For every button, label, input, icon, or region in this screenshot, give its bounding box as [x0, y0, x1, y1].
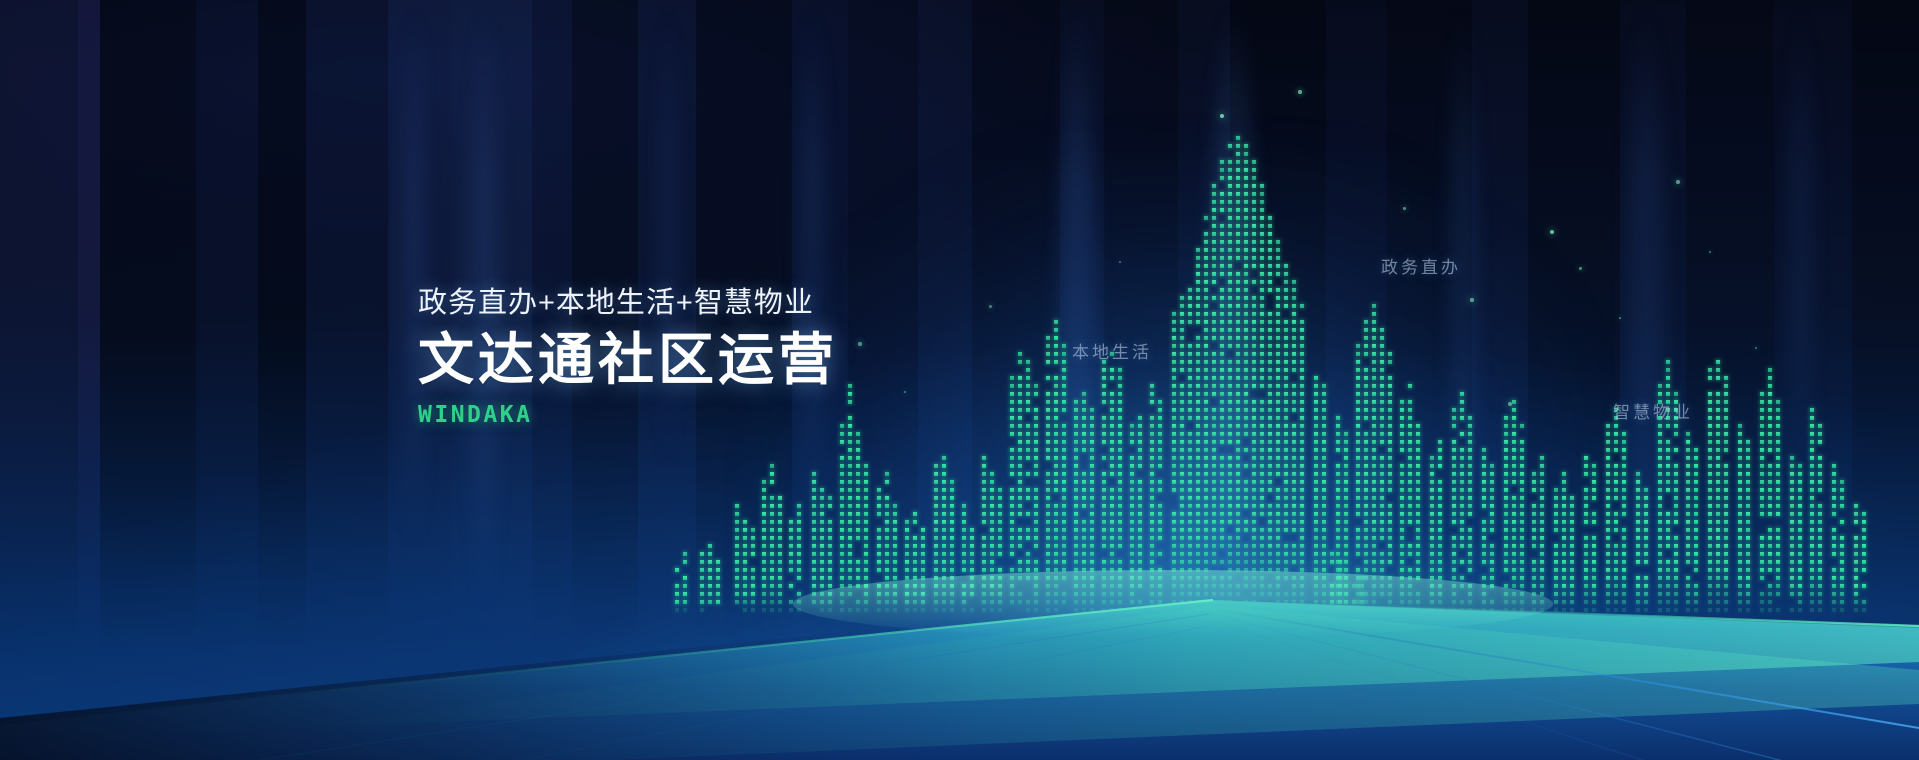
skyline-dot	[1284, 360, 1288, 364]
skyline-dot	[982, 600, 986, 604]
lane-line-blue-1	[1219, 610, 1919, 728]
skyline-dot	[1236, 224, 1240, 228]
skyline-dot	[1118, 416, 1122, 420]
skyline-dot	[913, 584, 917, 588]
skyline-dot	[1708, 584, 1712, 588]
skyline-dot	[1054, 328, 1058, 332]
skyline-dot	[1138, 440, 1142, 444]
skyline-dot	[1504, 560, 1508, 564]
skyline-dot	[1054, 528, 1058, 532]
skyline-dot	[1372, 360, 1376, 364]
stripe-band	[972, 0, 1060, 760]
skyline-dot	[1408, 568, 1412, 572]
skyline-dot	[675, 600, 679, 604]
skyline-dot	[1244, 336, 1248, 340]
skyline-dot	[1416, 488, 1420, 492]
skyline-dot	[1292, 600, 1296, 604]
skyline-dot	[1686, 448, 1690, 452]
skyline-dot	[1236, 448, 1240, 452]
skyline-dot	[1252, 368, 1256, 372]
skyline-dot	[877, 488, 881, 492]
skyline-dot	[864, 568, 868, 572]
skyline-dot	[1430, 600, 1434, 604]
skyline-dot	[762, 512, 766, 516]
skyline-dot	[1110, 536, 1114, 540]
skyline-dot	[1512, 496, 1516, 500]
skyline-dot	[1220, 240, 1224, 244]
skyline-dot	[962, 592, 966, 596]
skyline-dot	[1220, 424, 1224, 428]
skyline-dot	[1026, 384, 1030, 388]
skyline-dot	[1322, 392, 1326, 396]
stripe-band	[1472, 0, 1528, 760]
skyline-dot	[1592, 496, 1596, 500]
skyline-dot	[778, 584, 782, 588]
skyline-dot	[1380, 512, 1384, 516]
skyline-dot	[1372, 536, 1376, 540]
skyline-dot	[885, 568, 889, 572]
skyline-dot	[1336, 568, 1340, 572]
skyline-dot	[1300, 328, 1304, 332]
skyline-dot	[1018, 400, 1022, 404]
skyline-dot	[1314, 536, 1318, 540]
skyline-dot	[1854, 512, 1858, 516]
skyline-dot	[1138, 568, 1142, 572]
skyline-dot	[1416, 576, 1420, 580]
skyline-dot	[1010, 408, 1014, 412]
skyline-dot	[1292, 472, 1296, 476]
skyline-dot	[1798, 576, 1802, 580]
skyline-dot	[990, 600, 994, 604]
skyline-dot	[1606, 488, 1610, 492]
skyline-dot	[1180, 528, 1184, 532]
skyline-dot	[1694, 592, 1698, 596]
skyline-dot	[1054, 544, 1058, 548]
skyline-dot	[1236, 584, 1240, 588]
skyline-dot	[1322, 496, 1326, 500]
sparkle-particles	[0, 0, 1919, 760]
skyline-dot	[1482, 536, 1486, 540]
skyline-dot	[1228, 368, 1232, 372]
skyline-dot	[1074, 544, 1078, 548]
skyline-dot	[1810, 584, 1814, 588]
skyline-dot	[1130, 472, 1134, 476]
skyline-dot	[1158, 600, 1162, 604]
skyline-dot	[1322, 400, 1326, 404]
skyline-dot	[1686, 520, 1690, 524]
skyline-dot	[1220, 344, 1224, 348]
skyline-dot	[1260, 552, 1264, 556]
skyline-dot	[1666, 368, 1670, 372]
skyline-dot	[1818, 464, 1822, 468]
skyline-dot	[1532, 528, 1536, 532]
skyline-dot	[1268, 240, 1272, 244]
skyline-dot	[1102, 392, 1106, 396]
skyline-dot	[1344, 584, 1348, 588]
skyline-dot	[1810, 424, 1814, 428]
skyline-dot	[1708, 440, 1712, 444]
skyline-dot	[1244, 304, 1248, 308]
skyline-dot	[1490, 528, 1494, 532]
skyline-dot	[962, 552, 966, 556]
skyline-dot	[1364, 368, 1368, 372]
skyline-dot	[762, 544, 766, 548]
skyline-dot	[1694, 496, 1698, 500]
skyline-dot	[1196, 432, 1200, 436]
skyline-dot	[1188, 608, 1192, 612]
skyline-dot	[1694, 544, 1698, 548]
skyline-dot	[1260, 304, 1264, 308]
skyline-dot	[885, 472, 889, 476]
skyline-dot	[1102, 384, 1106, 388]
skyline-dot	[1738, 608, 1742, 612]
skyline-dot	[1212, 480, 1216, 484]
skyline-dot	[990, 584, 994, 588]
skyline-dot	[1554, 488, 1558, 492]
skyline-dot	[1322, 416, 1326, 420]
skyline-dot	[1204, 336, 1208, 340]
skyline-dot	[1666, 424, 1670, 428]
skyline-dot	[1400, 416, 1404, 420]
skyline-dot	[1364, 464, 1368, 468]
skyline-dot	[828, 568, 832, 572]
skyline-dot	[1562, 528, 1566, 532]
skyline-dot	[1090, 440, 1094, 444]
skyline-dot	[1212, 352, 1216, 356]
skyline-dot	[1584, 456, 1588, 460]
skyline-dot	[1236, 152, 1240, 156]
skyline-dot	[820, 576, 824, 580]
skyline-dot	[1268, 528, 1272, 532]
skyline-dot	[982, 552, 986, 556]
skyline-dot	[1196, 536, 1200, 540]
skyline-dot	[1300, 384, 1304, 388]
skyline-dot	[1292, 368, 1296, 372]
skyline-dot	[1260, 256, 1264, 260]
skyline-dot	[1708, 448, 1712, 452]
skyline-dot	[1430, 520, 1434, 524]
skyline-dot	[1708, 464, 1712, 468]
skyline-dot	[1400, 408, 1404, 412]
skyline-dot	[1110, 408, 1114, 412]
skyline-dot	[1276, 512, 1280, 516]
skyline-dot	[1074, 496, 1078, 500]
skyline-dot	[1614, 440, 1618, 444]
skyline-dot	[1130, 544, 1134, 548]
skyline-dot	[1356, 472, 1360, 476]
skyline-dot	[1364, 408, 1368, 412]
skyline-dot	[1062, 504, 1066, 508]
skyline-dot	[770, 600, 774, 604]
skyline-dot	[1228, 544, 1232, 548]
skyline-dot	[1562, 536, 1566, 540]
skyline-dot	[1026, 600, 1030, 604]
skyline-dot	[1482, 488, 1486, 492]
skyline-dot	[1236, 160, 1240, 164]
skyline-dot	[982, 464, 986, 468]
skyline-dot	[1082, 576, 1086, 580]
skyline-dot	[1592, 560, 1596, 564]
skyline-dot	[1118, 456, 1122, 460]
skyline-dot	[1110, 416, 1114, 420]
skyline-dot	[1380, 560, 1384, 564]
skyline-dot	[820, 584, 824, 588]
skyline-dot	[1300, 480, 1304, 484]
skyline-dot	[1438, 504, 1442, 508]
skyline-dot	[1790, 488, 1794, 492]
skyline-dot	[1026, 432, 1030, 436]
skyline-dot	[1188, 456, 1192, 460]
skyline-dot	[1062, 568, 1066, 572]
skyline-dot	[1562, 472, 1566, 476]
skyline-dot	[1010, 448, 1014, 452]
skyline-dot	[1292, 360, 1296, 364]
skyline-dot	[1592, 552, 1596, 556]
skyline-dot	[1212, 256, 1216, 260]
skyline-dot	[1554, 584, 1558, 588]
skyline-dot	[1276, 312, 1280, 316]
skyline-dot	[1034, 512, 1038, 516]
skyline-dot	[735, 528, 739, 532]
skyline-dot	[982, 512, 986, 516]
skyline-dot	[1336, 552, 1340, 556]
skyline-dot	[789, 536, 793, 540]
skyline-dot	[950, 584, 954, 588]
skyline-dot	[1284, 384, 1288, 388]
skyline-dot	[1760, 400, 1764, 404]
skyline-dot	[812, 504, 816, 508]
skyline-dot	[1614, 552, 1618, 556]
skyline-dot	[1236, 512, 1240, 516]
skyline-dot	[708, 584, 712, 588]
skyline-dot	[1110, 472, 1114, 476]
skyline-dot	[1716, 536, 1720, 540]
skyline-dot	[1686, 496, 1690, 500]
skyline-dot	[1244, 152, 1248, 156]
skyline-dot	[1760, 600, 1764, 604]
skyline-dot	[1034, 432, 1038, 436]
skyline-dot	[856, 456, 860, 460]
skyline-dot	[840, 544, 844, 548]
skyline-dot	[1372, 448, 1376, 452]
skyline-dot	[1118, 408, 1122, 412]
skyline-dot	[1400, 520, 1404, 524]
skyline-dot	[1708, 456, 1712, 460]
skyline-dot	[1130, 464, 1134, 468]
brand-name: WINDAKA	[418, 402, 838, 428]
skyline-dot	[893, 560, 897, 564]
skyline-dot	[1658, 448, 1662, 452]
skyline-dot	[743, 560, 747, 564]
skyline-dot	[1046, 600, 1050, 604]
skyline-dot	[1158, 400, 1162, 404]
skyline-dot	[1520, 504, 1524, 508]
skyline-dot	[1468, 528, 1472, 532]
skyline-dot	[1204, 216, 1208, 220]
skyline-dot	[1180, 320, 1184, 324]
skyline-dot	[1102, 536, 1106, 540]
skyline-dot	[1520, 424, 1524, 428]
skyline-dot	[1026, 512, 1030, 516]
skyline-dot	[716, 600, 720, 604]
skyline-dot	[1082, 552, 1086, 556]
skyline-dot	[1562, 608, 1566, 612]
skyline-dot	[1118, 584, 1122, 588]
skyline-dot	[1854, 552, 1858, 556]
skyline-dot	[998, 512, 1002, 516]
skyline-dot	[778, 520, 782, 524]
skyline-dot	[1622, 504, 1626, 508]
skyline-dot	[1074, 400, 1078, 404]
stripe-band	[1178, 0, 1230, 760]
skyline-dot	[1438, 440, 1442, 444]
skyline-dot	[1252, 184, 1256, 188]
skyline-dot	[1252, 600, 1256, 604]
skyline-dot	[1372, 584, 1376, 588]
skyline-dot	[1862, 536, 1866, 540]
skyline-dot	[1074, 600, 1078, 604]
skyline-dot	[970, 528, 974, 532]
skyline-dot	[1268, 552, 1272, 556]
teal-second-band	[0, 606, 1919, 760]
skyline-dot	[1768, 584, 1772, 588]
skyline-dot	[1658, 520, 1662, 524]
skyline-dot	[1570, 520, 1574, 524]
skyline-dot	[1622, 552, 1626, 556]
skyline-dot	[1380, 368, 1384, 372]
skyline-dot	[1188, 480, 1192, 484]
skyline-dot	[812, 488, 816, 492]
skyline-dot	[970, 568, 974, 572]
skyline-dot	[1212, 312, 1216, 316]
skyline-dot	[1090, 456, 1094, 460]
skyline-dot	[1300, 456, 1304, 460]
skyline-dot	[1776, 592, 1780, 596]
skyline-dot	[1760, 440, 1764, 444]
skyline-dot	[1798, 472, 1802, 476]
skyline-dot	[1400, 464, 1404, 468]
skyline-dot	[1292, 496, 1296, 500]
skyline-dot	[1102, 400, 1106, 404]
skyline-dot	[1666, 528, 1670, 532]
skyline-dot	[1244, 176, 1248, 180]
skyline-dot	[1636, 592, 1640, 596]
skyline-dot	[1724, 376, 1728, 380]
skyline-dot	[1798, 464, 1802, 468]
skyline-dot	[1314, 472, 1318, 476]
skyline-dot	[1314, 504, 1318, 508]
skyline-dot	[789, 568, 793, 572]
skyline-dot	[1118, 392, 1122, 396]
skyline-dot	[1172, 480, 1176, 484]
skyline-dot	[1220, 160, 1224, 164]
skyline-dot	[848, 592, 852, 596]
skyline-dot	[1300, 552, 1304, 556]
skyline-dot	[1364, 496, 1368, 500]
skyline-dot	[1074, 528, 1078, 532]
skyline-dot	[1482, 608, 1486, 612]
skyline-dot	[1724, 544, 1728, 548]
skyline-dot	[1380, 336, 1384, 340]
skyline-dot	[812, 560, 816, 564]
skyline-dot	[1158, 448, 1162, 452]
skyline-dot	[1708, 552, 1712, 556]
skyline-dot	[1666, 488, 1670, 492]
skyline-dot	[1468, 512, 1472, 516]
skyline-dot	[1490, 472, 1494, 476]
skyline-dot	[1082, 528, 1086, 532]
skyline-dot	[1172, 512, 1176, 516]
skyline-dot	[1018, 496, 1022, 500]
skyline-dot	[962, 536, 966, 540]
skyline-dot	[1180, 600, 1184, 604]
skyline-dot	[1592, 544, 1596, 548]
skyline-dot	[1276, 296, 1280, 300]
skyline-dot	[1228, 328, 1232, 332]
skyline-dot	[1416, 496, 1420, 500]
skyline-dot	[1300, 488, 1304, 492]
skyline-dot	[1540, 608, 1544, 612]
skyline-dot	[1244, 272, 1248, 276]
skyline-dot	[1364, 504, 1368, 508]
skyline-dot	[751, 568, 755, 572]
skyline-dot	[990, 512, 994, 516]
skyline-dot	[1010, 456, 1014, 460]
skyline-dot	[797, 536, 801, 540]
skyline-dot	[1118, 488, 1122, 492]
skyline-dot	[1540, 472, 1544, 476]
skyline-dot	[848, 400, 852, 404]
skyline-dot	[942, 568, 946, 572]
skyline-dot	[1292, 576, 1296, 580]
skyline-dot	[1482, 576, 1486, 580]
skyline-dot	[1832, 512, 1836, 516]
skyline-dot	[1268, 256, 1272, 260]
skyline-dot	[778, 592, 782, 596]
skyline-dot	[1054, 408, 1058, 412]
skyline-dot	[1344, 576, 1348, 580]
skyline-dot	[1468, 568, 1472, 572]
skyline-dot	[708, 600, 712, 604]
skyline-dot	[1658, 488, 1662, 492]
skyline-dot	[828, 544, 832, 548]
skyline-dot	[1388, 440, 1392, 444]
skyline-dot	[1562, 568, 1566, 572]
skyline-dot	[1314, 560, 1318, 564]
skyline-dot	[1244, 400, 1248, 404]
skyline-dot	[828, 608, 832, 612]
skyline-dot	[1062, 592, 1066, 596]
skyline-dot	[1776, 544, 1780, 548]
skyline-dot	[1018, 440, 1022, 444]
skyline-dot	[1252, 208, 1256, 212]
skyline-dot	[1430, 472, 1434, 476]
skyline-dot	[1252, 200, 1256, 204]
skyline-dot	[1606, 592, 1610, 596]
skyline-dot	[1768, 392, 1772, 396]
skyline-dot	[877, 600, 881, 604]
skyline-dot	[1408, 544, 1412, 548]
skyline-dot	[1352, 584, 1356, 588]
skyline-dot	[1482, 552, 1486, 556]
skyline-dot	[1482, 528, 1486, 532]
skyline-dot	[778, 504, 782, 508]
skyline-dot	[1388, 520, 1392, 524]
skyline-dot	[848, 536, 852, 540]
skyline-dot	[1300, 608, 1304, 612]
skyline-dot	[1694, 608, 1698, 612]
skyline-dot	[1212, 528, 1216, 532]
